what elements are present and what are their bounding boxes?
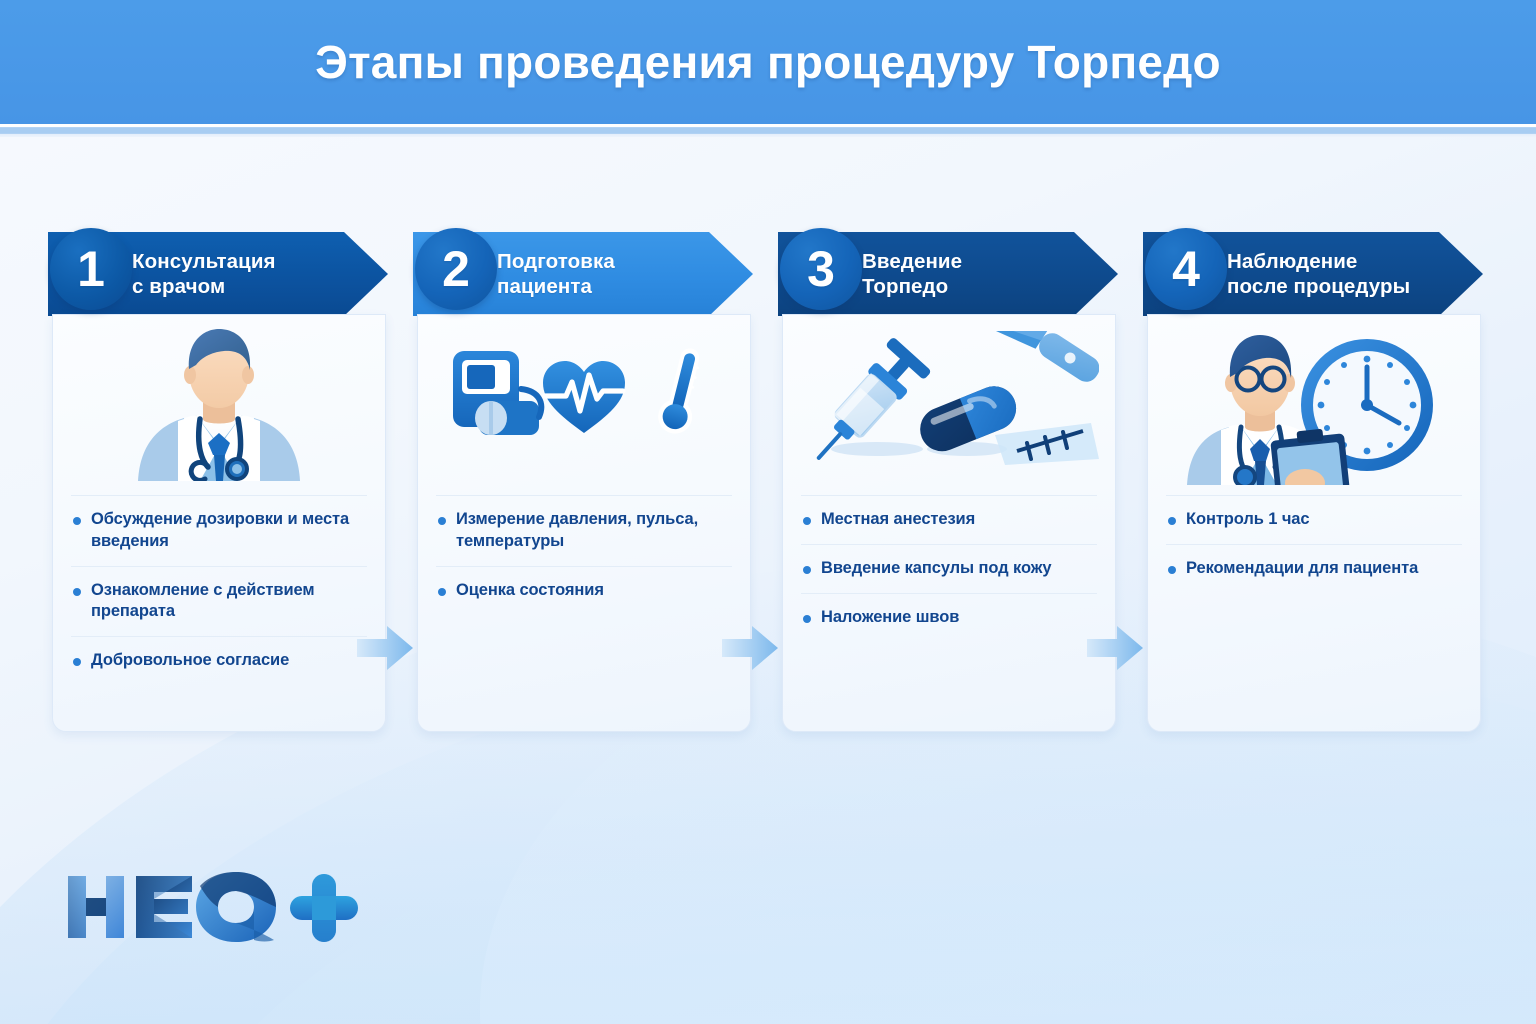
step-number-2: 2 [415, 228, 497, 310]
step-body-2: Измерение давления, пульса, температуры … [417, 314, 751, 732]
page-title: Этапы проведения процедуру Торпедо [315, 35, 1221, 89]
step-bullets-2: Измерение давления, пульса, температуры … [436, 495, 732, 614]
step-number-text-3: 3 [807, 244, 835, 294]
step-title-3: Введение Торпедо [862, 249, 962, 299]
syringe-capsule-scalpel-icon [799, 331, 1099, 471]
step-title-1: Консультация с врачом [132, 249, 276, 299]
bullet-dot-icon [73, 517, 81, 525]
step-title-2: Подготовка пациента [497, 249, 615, 299]
step-card-1[interactable]: Консультация с врачом 1 [48, 228, 388, 733]
step-number-text-4: 4 [1172, 244, 1200, 294]
step-body-3: Местная анестезия Введение капсулы под к… [782, 314, 1116, 732]
bullet-dot-icon [803, 566, 811, 574]
step-title-4: Наблюдение после процедуры [1227, 249, 1410, 299]
step-bullets-3: Местная анестезия Введение капсулы под к… [801, 495, 1097, 641]
list-item: Измерение давления, пульса, температуры [436, 495, 732, 566]
bullet-dot-icon [438, 588, 446, 596]
step-illustration-1 [53, 315, 385, 487]
step-number-text-2: 2 [442, 244, 470, 294]
step-card-4[interactable]: Наблюдение после процедуры 4 [1143, 228, 1483, 733]
step-body-4: Контроль 1 час Рекомендации для пациента [1147, 314, 1481, 732]
step-number-text-1: 1 [77, 244, 105, 294]
bullet-dot-icon [1168, 566, 1176, 574]
step-arrow-2-to-3 [722, 623, 778, 673]
list-item: Рекомендации для пациента [1166, 544, 1462, 593]
doctor-clipboard-clock-icon [1169, 317, 1459, 485]
step-arrow-1-to-2 [357, 623, 413, 673]
list-item: Обсуждение дозировки и места введения [71, 495, 367, 566]
step-number-1: 1 [50, 228, 132, 310]
header-accent-strip [0, 124, 1536, 137]
step-illustration-4 [1148, 315, 1480, 487]
step-illustration-3 [783, 315, 1115, 487]
step-card-3[interactable]: Введение Торпедо 3 [778, 228, 1118, 733]
list-item: Введение капсулы под кожу [801, 544, 1097, 593]
step-body-1: Обсуждение дозировки и места введения Оз… [52, 314, 386, 732]
bullet-dot-icon [73, 588, 81, 596]
neo-plus-logo-icon [64, 868, 364, 946]
doctor-stethoscope-icon [104, 321, 334, 481]
bullet-dot-icon [803, 615, 811, 623]
step-arrow-3-to-4 [1087, 623, 1143, 673]
bullet-dot-icon [1168, 517, 1176, 525]
bullet-dot-icon [73, 658, 81, 666]
step-illustration-2 [418, 315, 750, 487]
vitals-monitor-heart-thermometer-icon [439, 341, 729, 461]
list-item: Добровольное согласие [71, 636, 367, 685]
infographic-stage: Этапы проведения процедуру Торпедо Консу… [0, 0, 1536, 1024]
bullet-dot-icon [803, 517, 811, 525]
step-number-3: 3 [780, 228, 862, 310]
list-item: Местная анестезия [801, 495, 1097, 544]
steps-row: Консультация с врачом 1 [0, 228, 1536, 748]
step-number-4: 4 [1145, 228, 1227, 310]
list-item: Контроль 1 час [1166, 495, 1462, 544]
list-item: Наложение швов [801, 593, 1097, 642]
list-item: Оценка состояния [436, 566, 732, 615]
header-band: Этапы проведения процедуру Торпедо [0, 0, 1536, 124]
list-item: Ознакомление с действием препарата [71, 566, 367, 637]
brand-logo[interactable] [64, 868, 364, 946]
bullet-dot-icon [438, 517, 446, 525]
step-bullets-4: Контроль 1 час Рекомендации для пациента [1166, 495, 1462, 593]
step-card-2[interactable]: Подготовка пациента 2 [413, 228, 753, 733]
step-bullets-1: Обсуждение дозировки и места введения Оз… [71, 495, 367, 685]
